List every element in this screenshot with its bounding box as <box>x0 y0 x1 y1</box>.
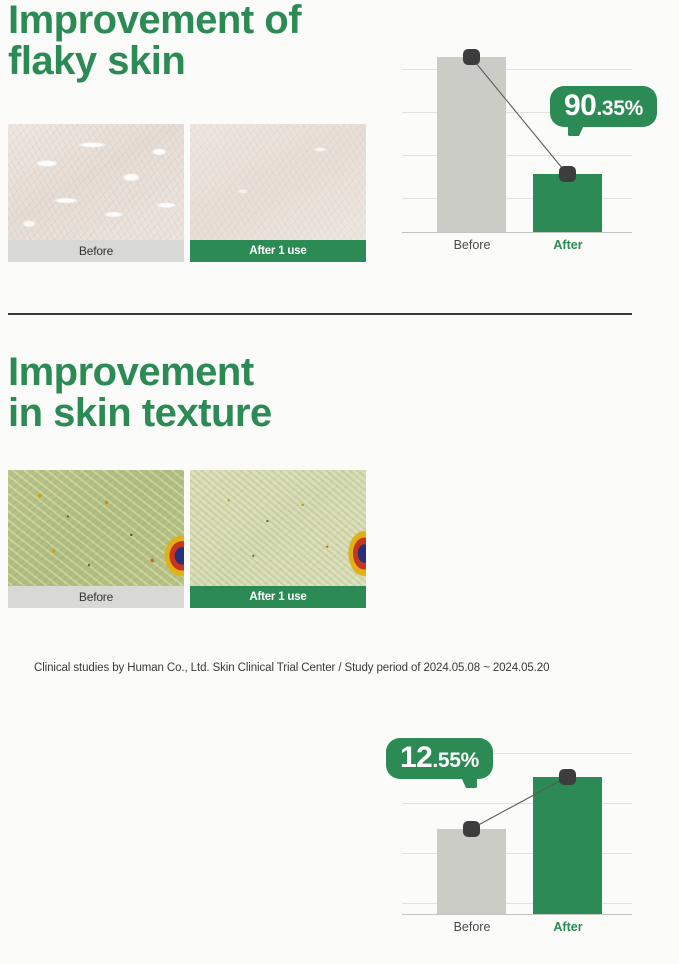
photo-card-after: After 1 use <box>190 470 366 608</box>
skin-photo-after <box>190 124 366 240</box>
section-divider <box>8 313 632 315</box>
page-title: Improvement of flaky skin <box>8 0 301 82</box>
section-flaky-skin: Improvement of flaky skin Before After 1… <box>0 0 679 310</box>
chart-plot-area: 90.35% <box>402 42 632 232</box>
chart-flaky-skin: 90.35% Before After <box>392 36 642 286</box>
x-axis-line <box>402 232 632 233</box>
chart-skin-texture: 12.55% Before After <box>392 718 642 964</box>
skin-photo-before <box>8 124 184 240</box>
chart-x-axis-labels: Before After <box>402 238 632 252</box>
section-title: Improvement in skin texture <box>8 352 272 434</box>
data-point-marker-after <box>559 166 576 182</box>
x-axis-line <box>402 914 632 915</box>
photo-caption-before: Before <box>8 586 184 608</box>
photo-comparison-pair: Before After 1 use <box>8 124 366 262</box>
axis-label-before: Before <box>424 920 520 934</box>
axis-label-after: After <box>520 238 616 252</box>
footer-disclaimer: Clinical studies by Human Co., Ltd. Skin… <box>34 662 549 674</box>
axis-label-before: Before <box>424 238 520 252</box>
photo-caption-after: After 1 use <box>190 240 366 262</box>
skin-photo-after <box>190 470 366 586</box>
axis-label-after: After <box>520 920 616 934</box>
chart-x-axis-labels: Before After <box>402 920 632 934</box>
photo-caption-after: After 1 use <box>190 586 366 608</box>
photo-caption-before: Before <box>8 240 184 262</box>
data-point-marker-before <box>463 49 480 65</box>
skin-photo-before <box>8 470 184 586</box>
callout-value-major: 12 <box>400 741 432 774</box>
callout-value-minor: .55% <box>432 749 479 772</box>
photo-comparison-pair: Before After 1 use <box>8 470 366 608</box>
data-point-marker-before <box>463 821 480 837</box>
value-callout: 90.35% <box>550 86 657 127</box>
section-skin-texture: Improvement in skin texture Before After… <box>0 330 679 630</box>
value-callout: 12.55% <box>386 738 493 779</box>
photo-card-before: Before <box>8 124 184 262</box>
change-connector-line <box>402 42 632 232</box>
callout-value-minor: .35% <box>596 97 643 120</box>
photo-card-after: After 1 use <box>190 124 366 262</box>
photo-card-before: Before <box>8 470 184 608</box>
chart-plot-area: 12.55% <box>402 732 632 914</box>
data-point-marker-after <box>559 769 576 785</box>
callout-value-major: 90 <box>564 89 596 122</box>
infographic-page: Improvement of flaky skin Before After 1… <box>0 0 679 681</box>
